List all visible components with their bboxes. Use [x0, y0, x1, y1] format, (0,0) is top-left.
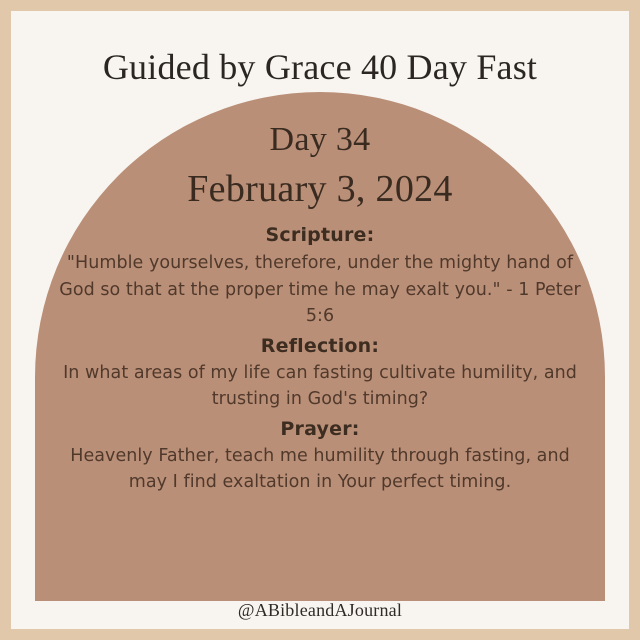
prayer-heading: Prayer: — [49, 417, 591, 443]
scripture-body: "Humble yourselves, therefore, under the… — [49, 250, 591, 330]
reflection-body: In what areas of my life can fasting cul… — [49, 360, 591, 413]
page-title: Guided by Grace 40 Day Fast — [11, 47, 629, 87]
prayer-body: Heavenly Father, teach me humility throu… — [49, 443, 591, 496]
prayer-section: Prayer: Heavenly Father, teach me humili… — [35, 417, 605, 496]
reflection-section: Reflection: In what areas of my life can… — [35, 334, 605, 413]
scripture-section: Scripture: "Humble yourselves, therefore… — [35, 223, 605, 330]
poster-frame: Guided by Grace 40 Day Fast Day 34 Febru… — [0, 0, 640, 640]
poster-card: Guided by Grace 40 Day Fast Day 34 Febru… — [11, 11, 629, 629]
reflection-heading: Reflection: — [49, 334, 591, 360]
day-date: February 3, 2024 — [35, 168, 605, 211]
arch-content: Day 34 February 3, 2024 Scripture: "Humb… — [35, 92, 605, 601]
scripture-heading: Scripture: — [49, 223, 591, 249]
day-number: Day 34 — [35, 120, 605, 160]
account-handle: @ABibleandAJournal — [11, 600, 629, 621]
